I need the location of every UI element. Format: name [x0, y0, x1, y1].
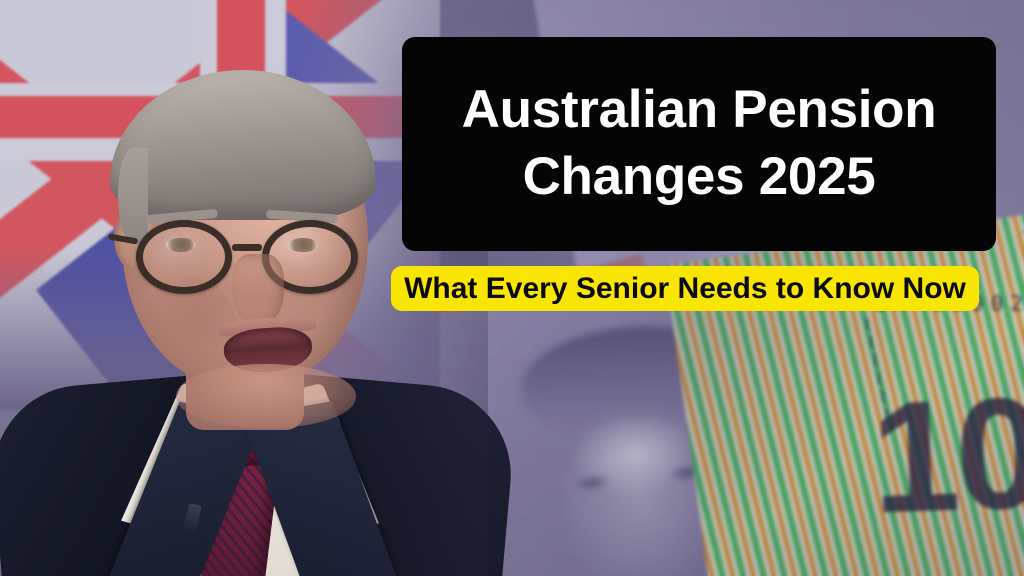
hair [110, 70, 376, 220]
subtitle-highlight: What Every Senior Needs to Know Now [391, 266, 979, 311]
subtitle-container: What Every Senior Needs to Know Now [372, 264, 998, 314]
chin [176, 364, 356, 428]
title-line-2: Changes 2025 [523, 144, 876, 211]
nose [232, 254, 284, 326]
thumbnail-canvas: Australia CM 99902 ~~~~~~ 10 [0, 0, 1024, 576]
eyeglass-lens-left [136, 220, 232, 294]
title-line-1: Australian Pension [462, 77, 937, 144]
title-card: Australian Pension Changes 2025 [402, 37, 996, 251]
eyeglass-bridge [232, 244, 262, 251]
